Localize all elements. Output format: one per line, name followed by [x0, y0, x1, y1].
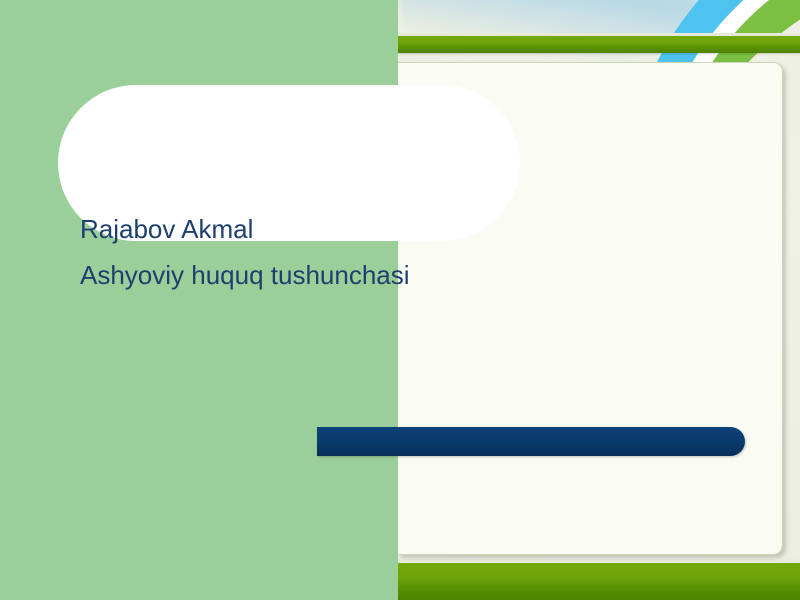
slide-text-block: Rajabov Akmal Ashyoviy huquq tushunchasi [80, 206, 700, 298]
bottom-green-band [398, 563, 800, 600]
author-line: Rajabov Akmal [80, 206, 700, 252]
top-green-band [398, 36, 800, 53]
topic-line: Ashyoviy huquq tushunchasi [80, 252, 700, 298]
slide-canvas: Rajabov Akmal Ashyoviy huquq tushunchasi [0, 0, 800, 600]
navy-accent-bar [317, 427, 745, 456]
